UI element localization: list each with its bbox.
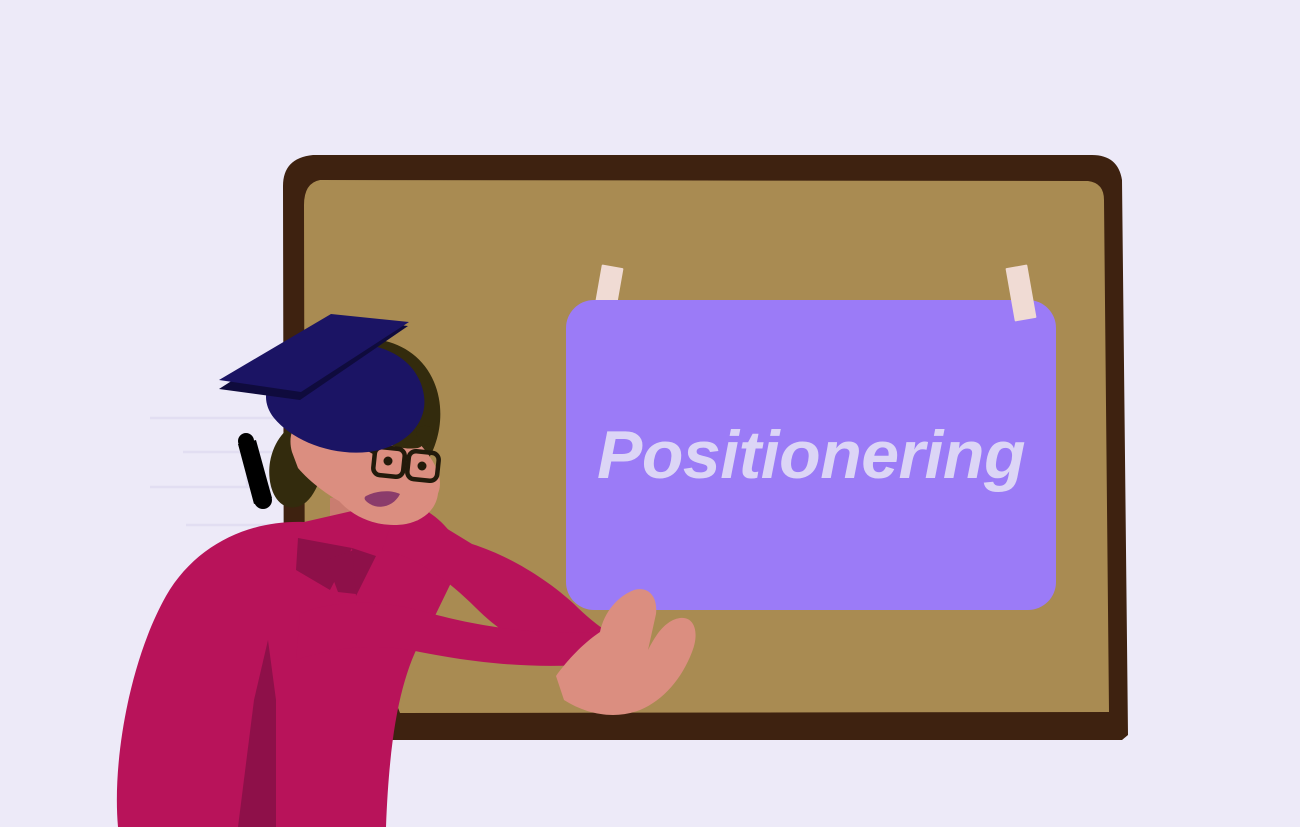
tassel-knot [238, 433, 254, 449]
scene-svg: Positionering [0, 0, 1300, 827]
poster-heading: Positionering [597, 417, 1025, 493]
tassel-end [254, 491, 272, 509]
illustration-canvas: Positionering [0, 0, 1300, 827]
glasses-bridge [404, 457, 409, 458]
eye-right [418, 462, 427, 471]
eye-left [384, 457, 393, 466]
poster: Positionering [566, 300, 1056, 610]
